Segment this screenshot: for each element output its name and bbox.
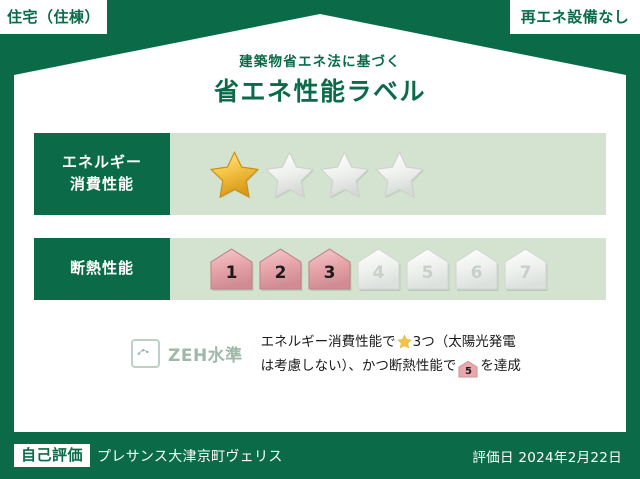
footer-left: 自己評価 プレサンス大津京町ヴェリス xyxy=(14,444,283,467)
grade-chip-inactive: 7 xyxy=(502,247,549,291)
label-canvas: 住宅（住棟） 再エネ設備なし 建築物省エネ法に基づく 省エネ性能ラベル エネルギ… xyxy=(0,0,640,479)
insulation-grade-scale: 1234567 xyxy=(208,247,551,291)
zeh-mark: ZEH水準 xyxy=(131,339,243,368)
page-title: 省エネ性能ラベル xyxy=(0,79,640,104)
zeh-check-icon xyxy=(131,339,160,368)
grade-chip-value: 3 xyxy=(324,265,336,291)
grade-chip-inactive: 4 xyxy=(355,247,402,291)
grade-chip-value: 2 xyxy=(275,265,287,291)
zeh-line2-suffix: を達成 xyxy=(480,358,521,374)
grade-chip-value: 4 xyxy=(373,265,385,291)
star-empty-icon xyxy=(263,149,316,200)
grade-chip-active: 2 xyxy=(257,247,304,291)
star-empty-icon xyxy=(318,149,371,200)
grade-chip-value: 7 xyxy=(520,265,532,291)
energy-star-rating xyxy=(170,133,606,215)
zeh-label: ZEH水準 xyxy=(168,341,243,366)
inline-star-icon xyxy=(397,333,412,348)
zeh-description: エネルギー消費性能で3つ（太陽光発電 は考慮しない）、かつ断熱性能で5を達成 xyxy=(261,330,521,378)
zeh-standard-note: ZEH水準 エネルギー消費性能で3つ（太陽光発電 は考慮しない）、かつ断熱性能で… xyxy=(34,330,606,378)
zeh-description-line1: エネルギー消費性能で3つ（太陽光発電 xyxy=(261,330,521,354)
insulation-performance-row: 断熱性能 1234567 xyxy=(34,238,606,300)
badge-housing-type-label: 住宅（住棟） xyxy=(7,10,100,25)
grade-chip-inactive: 5 xyxy=(404,247,451,291)
evaluation-type-badge: 自己評価 xyxy=(14,444,90,467)
insulation-performance-label: 断熱性能 xyxy=(34,238,170,300)
energy-performance-row: エネルギー 消費性能 xyxy=(34,133,606,215)
grade-chip-active: 1 xyxy=(208,247,255,291)
zeh-line1-prefix: エネルギー消費性能で xyxy=(261,334,396,350)
inline-grade-chip-value: 5 xyxy=(458,360,478,384)
grade-chip-value: 5 xyxy=(422,265,434,291)
title-block: 建築物省エネ法に基づく 省エネ性能ラベル xyxy=(0,56,640,104)
zeh-description-line2: は考慮しない）、かつ断熱性能で5を達成 xyxy=(261,354,521,378)
evaluation-date: 評価日 2024年2月22日 xyxy=(472,446,622,466)
grade-chip-inactive: 6 xyxy=(453,247,500,291)
title-subtitle: 建築物省エネ法に基づく xyxy=(0,56,640,70)
building-name: プレサンス大津京町ヴェリス xyxy=(97,446,283,466)
energy-performance-label-line2: 消費性能 xyxy=(70,174,134,196)
badge-housing-type: 住宅（住棟） xyxy=(0,0,107,34)
grade-chip-value: 1 xyxy=(226,265,238,291)
zeh-line2-prefix: は考慮しない）、かつ断熱性能で xyxy=(261,358,457,374)
insulation-grade-body: 1234567 xyxy=(170,238,606,300)
inline-grade-chip: 5 xyxy=(458,360,478,378)
zeh-line1-suffix: 3つ（太陽光発電 xyxy=(413,334,516,350)
energy-performance-label: エネルギー 消費性能 xyxy=(34,133,170,215)
energy-performance-label-line1: エネルギー xyxy=(62,152,142,174)
star-empty-icon xyxy=(373,149,426,200)
insulation-performance-label-text: 断熱性能 xyxy=(70,258,134,280)
badge-renewable-energy: 再エネ設備なし xyxy=(510,0,640,34)
grade-chip-active: 3 xyxy=(306,247,353,291)
footer-bar: 自己評価 プレサンス大津京町ヴェリス 評価日 2024年2月22日 xyxy=(0,432,640,479)
star-filled-icon xyxy=(208,149,261,200)
badge-renewable-energy-label: 再エネ設備なし xyxy=(521,10,630,25)
grade-chip-value: 6 xyxy=(471,265,483,291)
